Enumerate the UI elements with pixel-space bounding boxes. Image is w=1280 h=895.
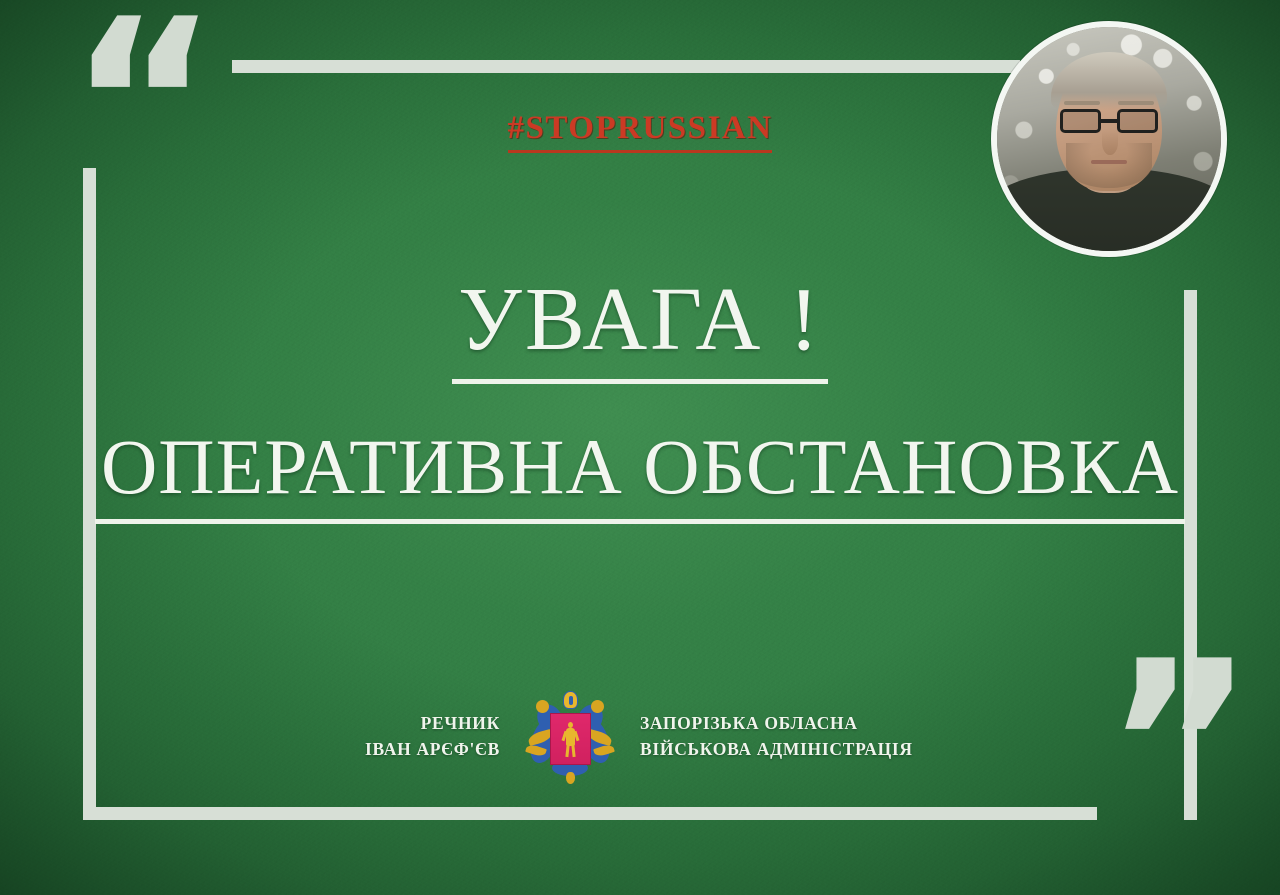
coa-trident-icon <box>563 691 578 709</box>
frame-line-top <box>232 60 1020 73</box>
coa-mace-right <box>591 700 604 713</box>
org-name-line-1: ЗАПОРІЗЬКА ОБЛАСНА <box>640 710 970 736</box>
coa-cossack-figure <box>564 720 577 758</box>
coa-cossack-leg-right <box>571 745 575 757</box>
speaker-role-label: РЕЧНИК <box>310 710 500 736</box>
coa-cossack-body <box>566 728 575 746</box>
avatar-eyebrow-right <box>1118 101 1154 105</box>
avatar-mouth <box>1091 160 1127 164</box>
frame-line-bottom <box>83 807 1097 820</box>
zaporizhzhia-coat-of-arms-icon <box>522 686 618 786</box>
coa-mace-left <box>536 700 549 713</box>
headline-block: УВАГА ! ОПЕРАТИВНА ОБСТАНОВКА <box>0 272 1280 524</box>
coa-pendant <box>566 772 575 784</box>
organization-block: ЗАПОРІЗЬКА ОБЛАСНА ВІЙСЬКОВА АДМІНІСТРАЦ… <box>640 710 970 763</box>
org-name-line-2: ВІЙСЬКОВА АДМІНІСТРАЦІЯ <box>640 736 970 762</box>
hashtag-banner: #STOPRUSSIAN <box>0 110 1280 153</box>
speaker-name-label: ІВАН АРЄФ'ЄВ <box>310 736 500 762</box>
coa-cossack-leg-left <box>565 745 569 757</box>
headline-operational-situation: ОПЕРАТИВНА ОБСТАНОВКА <box>95 426 1185 524</box>
avatar-eyebrow-left <box>1064 101 1100 105</box>
footer-bar: РЕЧНИК ІВАН АРЄФ'ЄВ <box>0 686 1280 786</box>
hashtag-text: #STOPRUSSIAN <box>508 110 773 153</box>
speaker-block: РЕЧНИК ІВАН АРЄФ'ЄВ <box>310 710 500 763</box>
announcement-poster: “ ” #STOPRUSSIAN УВАГА ! ОПЕРАТИВНА ОБСТ… <box>0 0 1280 895</box>
headline-attention: УВАГА ! <box>452 272 828 384</box>
